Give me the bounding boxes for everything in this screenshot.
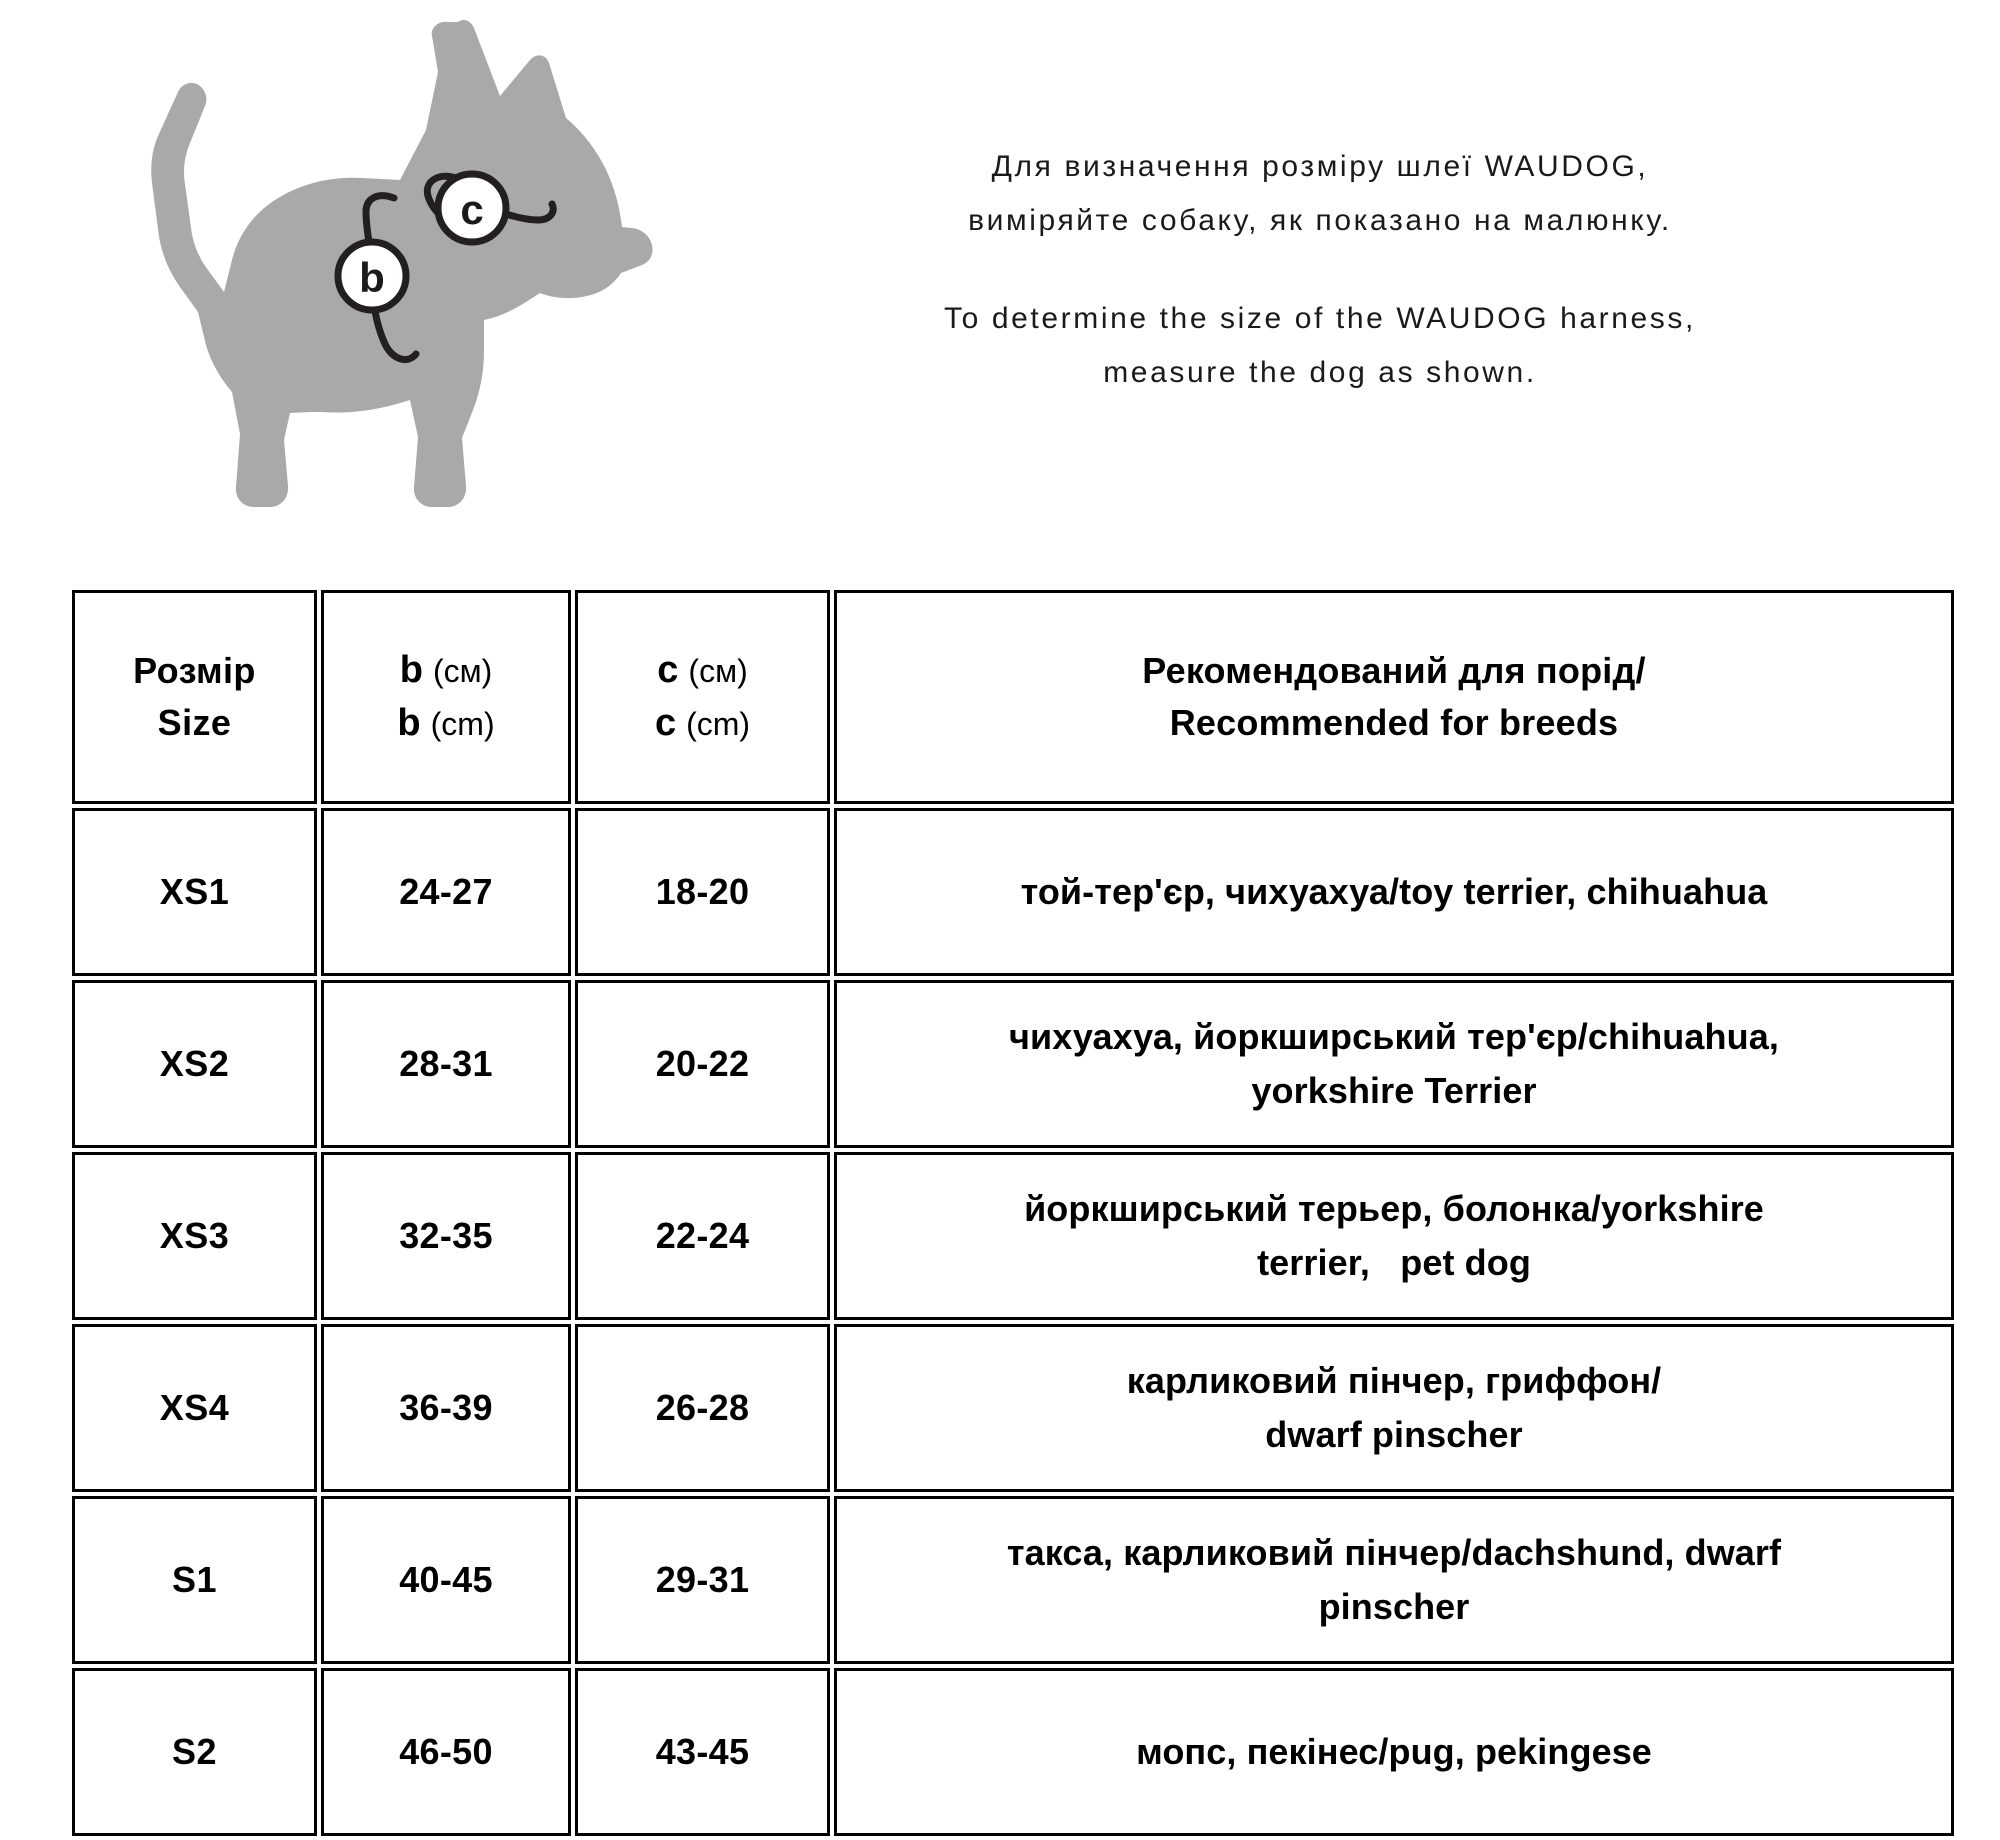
header-b-letter-uk: b — [400, 649, 423, 691]
header-breeds-en: Recommended for breeds — [847, 697, 1941, 749]
header-size-cell: Розмір Size — [72, 590, 317, 804]
intro-uk-line-2: виміряйте собаку, як показано на малюнку… — [700, 194, 1940, 248]
cell-breeds: мопс, пекінес/pug, pekingese — [834, 1668, 1954, 1836]
cell-c-value: 29-31 — [575, 1496, 830, 1664]
header-section: b c Для визначення розміру шлеї WAUDOG, … — [0, 0, 2000, 580]
cell-size: XS4 — [72, 1324, 317, 1492]
header-b-uk: b (см) — [334, 644, 558, 697]
intro-spacer — [700, 248, 1940, 292]
cell-b-value: 40-45 — [321, 1496, 571, 1664]
table-row: XS332-3522-24йоркширський терьер, болонк… — [72, 1152, 1954, 1320]
cell-c-value: 43-45 — [575, 1668, 830, 1836]
header-c-en: c (cm) — [588, 697, 817, 750]
table-row: XS436-3926-28карликовий пінчер, гриффон/… — [72, 1324, 1954, 1492]
cell-c-value: 26-28 — [575, 1324, 830, 1492]
cell-size: XS2 — [72, 980, 317, 1148]
intro-en-line-1: To determine the size of the WAUDOG harn… — [700, 292, 1940, 346]
table-row: XS228-3120-22чихуахуа, йоркширський тер'… — [72, 980, 1954, 1148]
header-size-en: Size — [85, 697, 304, 749]
cell-b-value: 46-50 — [321, 1668, 571, 1836]
cell-c-value: 18-20 — [575, 808, 830, 976]
size-chart-table: Розмір Size b (см) b (cm) c — [68, 586, 1958, 1840]
cell-size: XS1 — [72, 808, 317, 976]
marker-b-label: b — [359, 254, 385, 301]
marker-c-label: c — [460, 186, 483, 233]
header-b-unit-en: (cm) — [431, 706, 495, 742]
intro-en-line-2: measure the dog as shown. — [700, 346, 1940, 400]
cell-size: XS3 — [72, 1152, 317, 1320]
table-row: S246-5043-45мопс, пекінес/pug, pekingese — [72, 1668, 1954, 1836]
cell-c-value: 20-22 — [575, 980, 830, 1148]
header-b-en: b (cm) — [334, 697, 558, 750]
dog-measurement-illustration: b c — [60, 0, 680, 580]
table-row: XS124-2718-20той-тер'єр, чихуахуа/toy te… — [72, 808, 1954, 976]
cell-c-value: 22-24 — [575, 1152, 830, 1320]
intro-text-block: Для визначення розміру шлеї WAUDOG, вимі… — [700, 140, 1940, 400]
header-b-cell: b (см) b (cm) — [321, 590, 571, 804]
header-c-unit-uk: (см) — [688, 653, 747, 689]
size-table-container: Розмір Size b (см) b (cm) c — [68, 586, 1938, 1840]
table-header-row: Розмір Size b (см) b (cm) c — [72, 590, 1954, 804]
cell-size: S1 — [72, 1496, 317, 1664]
header-b-unit-uk: (см) — [433, 653, 492, 689]
intro-uk-line-1: Для визначення розміру шлеї WAUDOG, — [700, 140, 1940, 194]
cell-b-value: 32-35 — [321, 1152, 571, 1320]
cell-size: S2 — [72, 1668, 317, 1836]
header-c-uk: c (см) — [588, 644, 817, 697]
table-body: XS124-2718-20той-тер'єр, чихуахуа/toy te… — [72, 808, 1954, 1836]
cell-b-value: 28-31 — [321, 980, 571, 1148]
cell-breeds: такса, карликовий пінчер/dachshund, dwar… — [834, 1496, 1954, 1664]
header-c-letter-en: c — [655, 702, 676, 744]
header-breeds-cell: Рекомендований для порід/ Recommended fo… — [834, 590, 1954, 804]
header-c-letter-uk: c — [657, 649, 678, 691]
header-b-letter-en: b — [397, 702, 420, 744]
cell-breeds: той-тер'єр, чихуахуа/toy terrier, chihua… — [834, 808, 1954, 976]
cell-b-value: 36-39 — [321, 1324, 571, 1492]
cell-breeds: карликовий пінчер, гриффон/ dwarf pinsch… — [834, 1324, 1954, 1492]
header-size-uk: Розмір — [85, 645, 304, 697]
header-breeds-uk: Рекомендований для порід/ — [847, 645, 1941, 697]
header-c-cell: c (см) c (cm) — [575, 590, 830, 804]
cell-breeds: чихуахуа, йоркширський тер'єр/chihuahua,… — [834, 980, 1954, 1148]
table-row: S140-4529-31такса, карликовий пінчер/dac… — [72, 1496, 1954, 1664]
header-c-unit-en: (cm) — [686, 706, 750, 742]
cell-b-value: 24-27 — [321, 808, 571, 976]
cell-breeds: йоркширський терьер, болонка/yorkshire t… — [834, 1152, 1954, 1320]
